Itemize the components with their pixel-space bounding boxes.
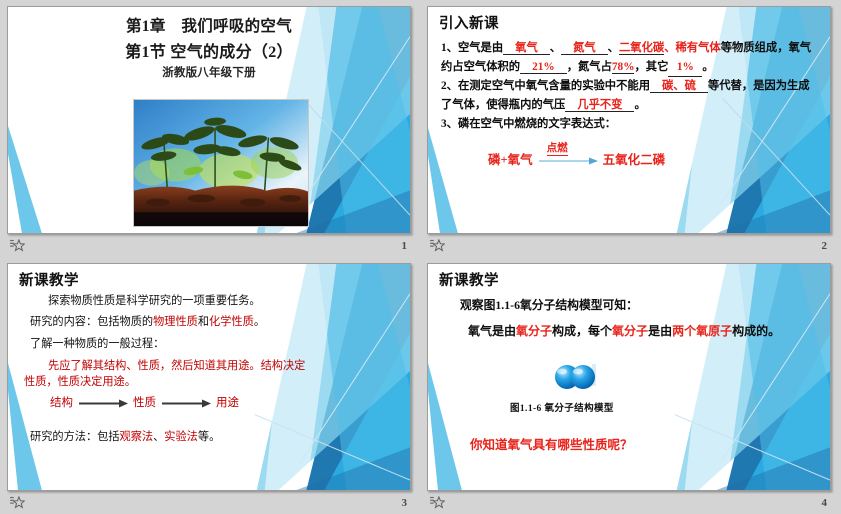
slide3-body: 探索物质性质是科学研究的一项重要任务。 研究的内容：包括物质的物理性质和化学性质… (24, 290, 398, 447)
slide4-section-title: 新课教学 (439, 269, 499, 290)
slide-1-page-number: 1 (402, 240, 408, 252)
slide3-section-title: 新课教学 (19, 269, 79, 290)
star-outline-icon (430, 496, 445, 509)
slide2-item-3: 3、磷在空气中燃烧的文字表达式： (441, 115, 820, 134)
slide-cell-2: 引入新课 1、空气是由氧气、氮气、二氧化碳、稀有气体等物质组成，氧气约占空气体积… (421, 0, 841, 257)
slide-thumbnail-grid: 第1章 我们呼吸的空气 第1节 空气的成分（2） 浙教版八年级下册 (0, 0, 841, 514)
slide3-line-6: 研究的方法：包括观察法、实验法等。 (24, 426, 398, 447)
blank-carbon-sulfur: 碳、硫 (650, 80, 708, 93)
slide3-line-5: 性质，性质决定用途。 (24, 374, 398, 390)
slide-4-statusbar: 4 (427, 493, 831, 512)
blank-rare-gas: 稀有气体 (676, 42, 721, 54)
slide4-line-1: 观察图1.1-6氧分子结构模型可知： (460, 296, 638, 313)
slide2-equation: 磷+氧气 点燃 五氧化二磷 (488, 143, 665, 168)
blank-oxygen: 氧气 (503, 42, 550, 55)
slide-3-statusbar: 3 (7, 493, 411, 512)
blank-21pct: 21% (520, 61, 567, 74)
slide4-line-2: 氧气是由氧分子构成，每个氧分子是由两个氧原子构成的。 (468, 322, 780, 339)
blank-nitrogen: 氮气 (561, 42, 608, 55)
slide-1[interactable]: 第1章 我们呼吸的空气 第1节 空气的成分（2） 浙教版八年级下册 (7, 6, 411, 234)
slide-3-page-number: 3 (402, 497, 408, 509)
slide2-item-1: 1、空气是由氧气、氮气、二氧化碳、稀有气体等物质组成，氧气约占空气体积的21%，… (441, 39, 820, 77)
flow-arrow-icon (77, 398, 129, 409)
blank-78pct: 78% (612, 61, 635, 74)
star-outline-icon (10, 239, 25, 252)
seedlings-photo (133, 99, 309, 227)
flow-arrow-icon (160, 398, 212, 409)
equation-arrow: 点燃 (537, 143, 599, 167)
slide-2-statusbar: 2 (427, 236, 831, 255)
slide3-line-4: 先应了解其结构、性质，然后知道其用途。结构决定 (24, 358, 398, 374)
slide4-question: 你知道氧气具有哪些性质呢？ (470, 434, 633, 453)
blank-1pct: 1% (668, 58, 702, 78)
slide-3[interactable]: 新课教学 探索物质性质是科学研究的一项重要任务。 研究的内容：包括物质的物理性质… (7, 263, 411, 491)
slide3-line-2: 研究的内容：包括物质的物理性质和化学性质。 (24, 311, 398, 332)
highlight-chemical-property: 化学性质 (209, 315, 254, 328)
slide-2-page-number: 2 (822, 240, 828, 252)
highlight-two-oxygen-atoms: 两个氧原子 (672, 324, 732, 338)
slide-cell-3: 新课教学 探索物质性质是科学研究的一项重要任务。 研究的内容：包括物质的物理性质… (0, 257, 421, 514)
slide-1-statusbar: 1 (7, 236, 411, 255)
slide-4[interactable]: 新课教学 观察图1.1-6氧分子结构模型可知： 氧气是由氧分子构成，每个氧分子是… (427, 263, 831, 491)
slide3-line-3: 了解一种物质的一般过程： (24, 333, 398, 354)
slide4-figure-caption: 图1.1-6 氧分子结构模型 (510, 400, 614, 414)
slide2-section-title: 引入新课 (439, 12, 499, 33)
star-outline-icon (430, 239, 445, 252)
highlight-observation-method: 观察法 (120, 430, 154, 443)
slide-cell-4: 新课教学 观察图1.1-6氧分子结构模型可知： 氧气是由氧分子构成，每个氧分子是… (421, 257, 841, 514)
slide-2[interactable]: 引入新课 1、空气是由氧气、氮气、二氧化碳、稀有气体等物质组成，氧气约占空气体积… (427, 6, 831, 234)
slide1-subtitle: 浙教版八年级下册 (8, 64, 410, 80)
highlight-physical-property: 物理性质 (153, 315, 198, 328)
blank-co2: 二氧化碳 (619, 42, 664, 55)
highlight-oxygen-molecule-1: 氧分子 (516, 324, 552, 338)
slide2-body: 1、空气是由氧气、氮气、二氧化碳、稀有气体等物质组成，氧气约占空气体积的21%，… (441, 39, 820, 133)
equation-right: 五氧化二磷 (603, 149, 666, 168)
slide3-flow-diagram: 结构 性质 用途 (24, 392, 398, 414)
flow-node-property: 性质 (133, 392, 156, 414)
slide1-title-line1: 第1章 我们呼吸的空气 (8, 14, 410, 36)
slide-cell-1: 第1章 我们呼吸的空气 第1节 空气的成分（2） 浙教版八年级下册 (0, 0, 421, 257)
slide1-title-line2: 第1节 空气的成分（2） (8, 38, 410, 62)
slide3-line-1: 探索物质性质是科学研究的一项重要任务。 (24, 290, 398, 311)
flow-node-structure: 结构 (50, 392, 73, 414)
blank-almost-unchanged: 几乎不变 (565, 99, 634, 112)
equation-left: 磷+氧气 (488, 149, 533, 168)
highlight-oxygen-molecule-2: 氧分子 (612, 324, 648, 338)
highlight-experiment-method: 实验法 (164, 430, 198, 443)
slide2-item-2: 2、在测定空气中氧气含量的实验中不能用碳、硫等代替，是因为生成了气体，使得瓶内的… (441, 77, 820, 114)
slide-4-page-number: 4 (822, 497, 828, 509)
oxygen-molecule-model-icon (548, 364, 612, 390)
star-outline-icon (10, 496, 25, 509)
flow-node-use: 用途 (216, 392, 239, 414)
